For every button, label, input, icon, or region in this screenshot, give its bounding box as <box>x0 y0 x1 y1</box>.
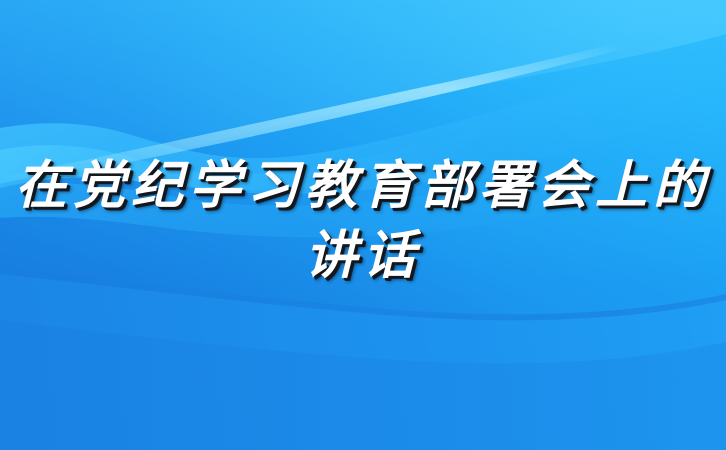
title-line-2: 讲话 <box>0 230 726 282</box>
poster-title: 在党纪学习教育部署会上的 讲话 <box>0 160 726 282</box>
title-line-1: 在党纪学习教育部署会上的 <box>0 160 726 212</box>
poster-canvas: 在党纪学习教育部署会上的 讲话 <box>0 0 726 450</box>
